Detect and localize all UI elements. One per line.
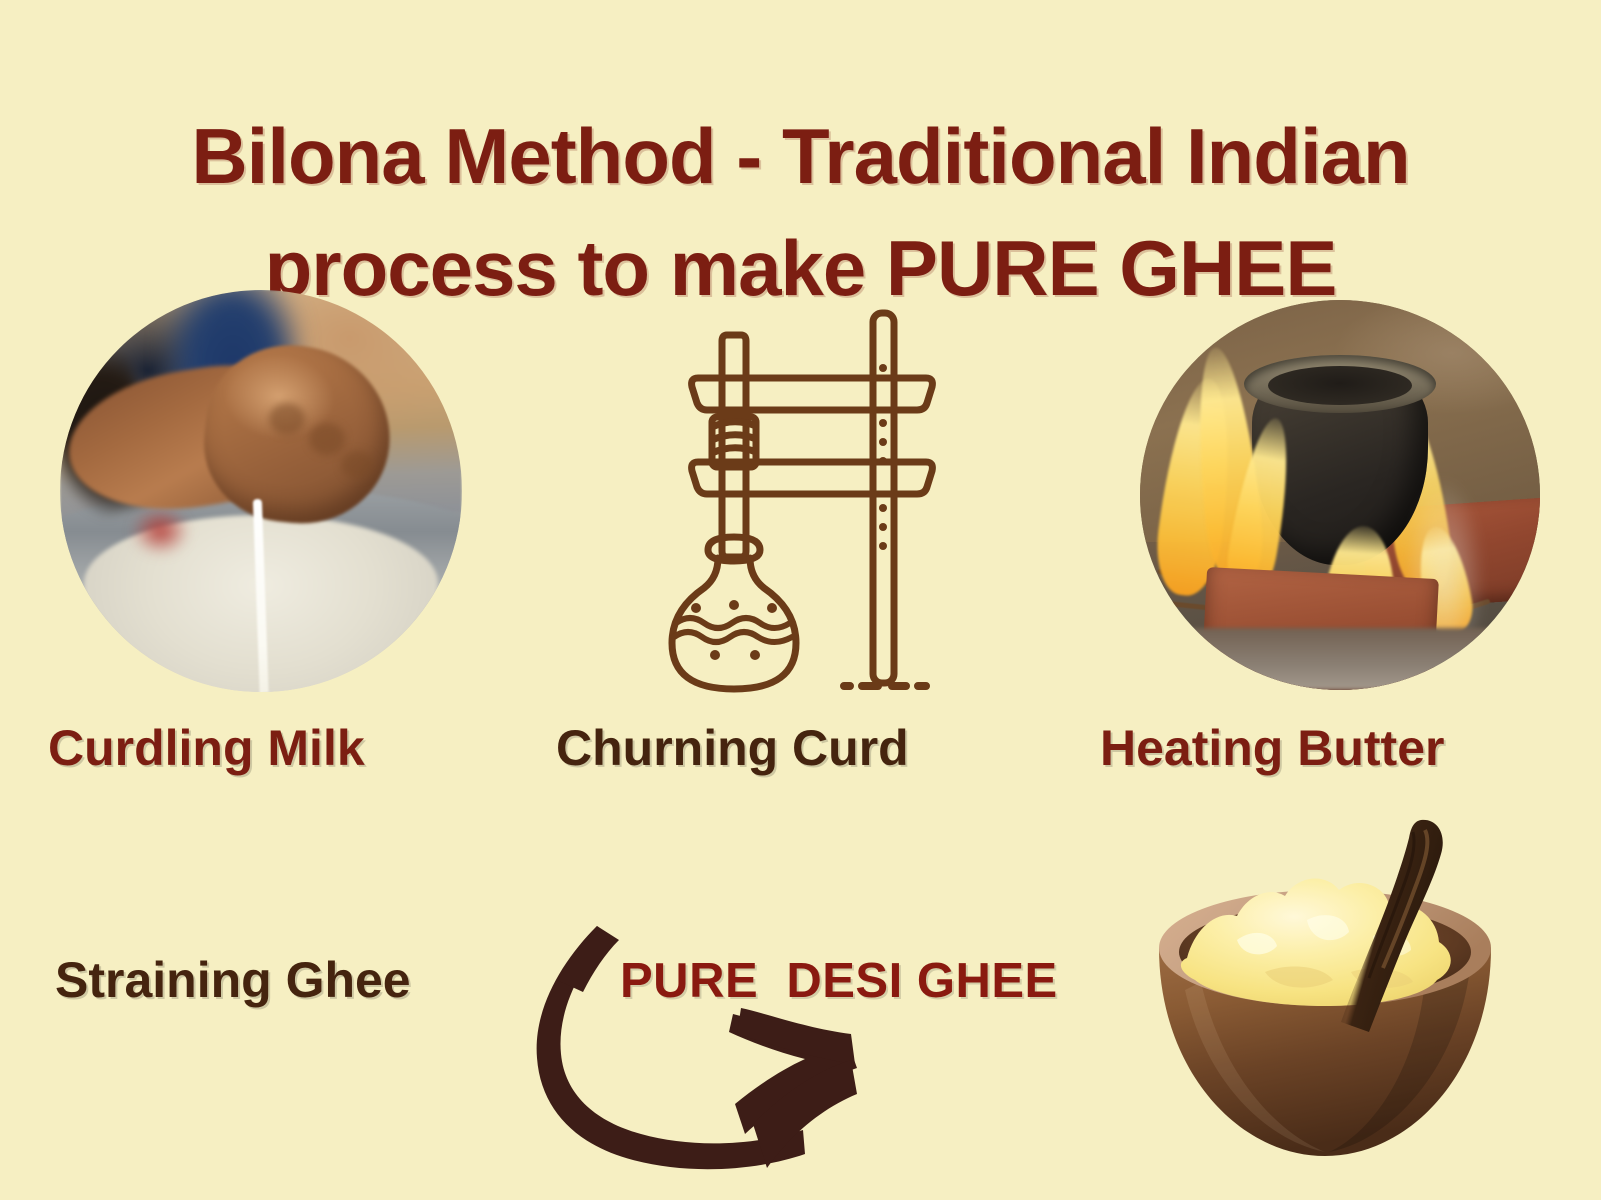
result-label-pure-desi-ghee: PURE DESI GHEE [620, 952, 1058, 1010]
rope-coil-3 [712, 448, 756, 453]
infographic-poster: Bilona Method - Traditional Indian proce… [0, 0, 1601, 1200]
pot-dot [691, 603, 701, 613]
knuckle [309, 423, 345, 455]
curdling-milk-photo-inner [60, 290, 462, 692]
post-dot [879, 523, 887, 531]
ghee-bowl-photo [1125, 800, 1525, 1190]
curd-wave-2 [674, 632, 792, 642]
knuckle [341, 451, 373, 479]
arrow-tail-thick [557, 926, 619, 992]
pot-dot [729, 600, 739, 610]
ash-ground [1140, 628, 1540, 690]
curd-wave-1 [676, 618, 790, 628]
knuckle [269, 403, 305, 435]
step-label-straining-ghee: Straining Ghee [55, 950, 411, 1010]
page-title-line-1: Bilona Method - Traditional Indian [0, 100, 1601, 212]
red-cloth-blur [132, 507, 188, 555]
step-label-curdling-milk: Curdling Milk [48, 718, 365, 778]
curdling-milk-photo [60, 290, 462, 692]
pot-dot [710, 650, 720, 660]
step-label-churning-curd: Churning Curd [556, 718, 909, 778]
rope-coil-1 [712, 422, 756, 427]
post-dot [879, 457, 887, 465]
rope-coil-2 [712, 435, 756, 440]
post-dot [879, 364, 887, 372]
post-dot [879, 419, 887, 427]
post-dot [879, 438, 887, 446]
heating-butter-photo [1140, 300, 1540, 690]
step-label-heating-butter: Heating Butter [1100, 718, 1444, 778]
pot-dot [767, 603, 777, 613]
post-dot [879, 542, 887, 550]
pot-dot [750, 650, 760, 660]
bilona-churner-icon [630, 305, 950, 700]
heating-butter-photo-inner [1140, 300, 1540, 690]
post-dot [879, 504, 887, 512]
